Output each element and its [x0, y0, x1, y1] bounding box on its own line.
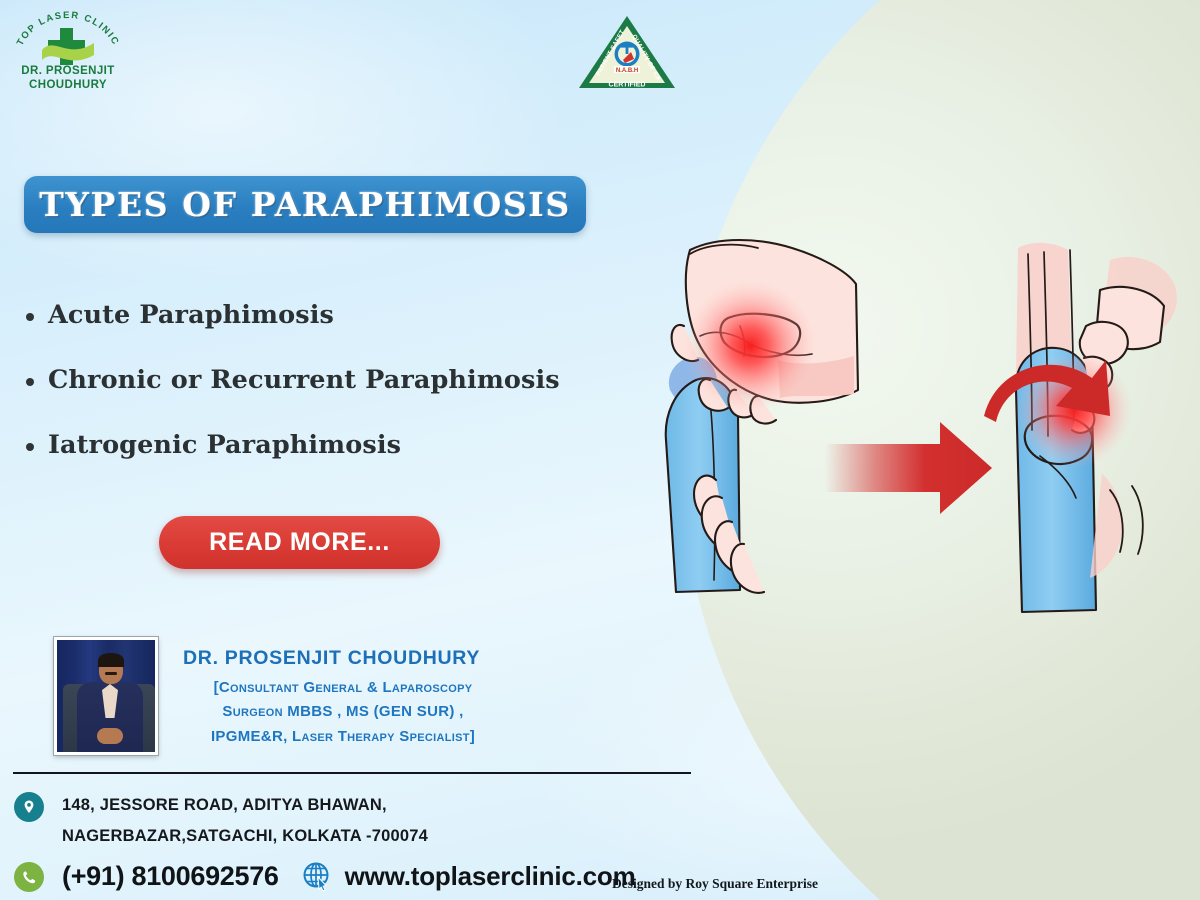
list-item: Chronic or Recurrent Paraphimosis	[20, 365, 580, 397]
nabh-acronym: N.A.B.H	[616, 68, 638, 74]
list-item: Acute Paraphimosis	[20, 300, 580, 332]
phone-web-row: (+91) 8100692576 www.toplaserclinic.com	[14, 860, 714, 892]
clinic-website[interactable]: www.toplaserclinic.com	[345, 861, 636, 892]
page-title: Types of Paraphimosis	[39, 185, 571, 224]
paraphimosis-illustration	[640, 230, 1185, 630]
poster-canvas: TOP LASER CLINIC DR. PROSENJIT CHOUDHURY…	[0, 0, 1200, 900]
clinic-phone[interactable]: (+91) 8100692576	[62, 861, 279, 892]
list-item-label: Chronic or Recurrent Paraphimosis	[48, 365, 560, 397]
list-item-label: Acute Paraphimosis	[48, 300, 334, 332]
logo-name-line2: CHOUDHURY	[29, 79, 107, 91]
footer-divider	[13, 772, 691, 774]
logo-clinic-name: DR. PROSENJIT CHOUDHURY	[8, 64, 128, 93]
photo-hair	[98, 653, 124, 667]
nabh-certified-label: CERTIFIED	[609, 82, 646, 89]
bullet-dot-icon	[26, 378, 34, 386]
doctor-profile: DR. PROSENJIT CHOUDHURY [Consultant Gene…	[54, 637, 503, 755]
map-pin-icon	[14, 792, 44, 822]
clinic-logo[interactable]: TOP LASER CLINIC DR. PROSENJIT CHOUDHURY	[8, 6, 128, 102]
address-line2: NAGERBAZAR,SATGACHI, KOLKATA -700074	[62, 827, 428, 845]
design-credit: Designed by Roy Square Enterprise	[612, 876, 818, 892]
doctor-credentials-line3: IPGME&R, Laser Therapy Specialist]	[211, 728, 475, 745]
list-item: Iatrogenic Paraphimosis	[20, 430, 580, 462]
list-item-label: Iatrogenic Paraphimosis	[48, 430, 401, 462]
doctor-name: DR. PROSENJIT CHOUDHURY	[183, 647, 503, 670]
inflammation-glow	[684, 280, 816, 412]
globe-cursor-icon	[301, 860, 333, 892]
doctor-photo	[54, 637, 158, 755]
doctor-credentials-line2: Surgeon MBBS , MS (GEN SUR) ,	[222, 703, 463, 720]
photo-moustache	[105, 672, 117, 675]
bullet-dot-icon	[26, 313, 34, 321]
doctor-details: DR. PROSENJIT CHOUDHURY [Consultant Gene…	[183, 637, 503, 749]
address-row: 148, JESSORE ROAD, ADITYA BHAWAN, NAGERB…	[14, 790, 714, 851]
doctor-credentials-line1: [Consultant General & Laparoscopy	[214, 679, 473, 696]
address-line1: 148, JESSORE ROAD, ADITYA BHAWAN,	[62, 796, 387, 814]
paraphimosis-type-list: Acute Paraphimosis Chronic or Recurrent …	[20, 300, 580, 495]
phone-handset-icon	[14, 862, 44, 892]
logo-name-line1: DR. PROSENJIT	[21, 65, 114, 77]
clinic-address: 148, JESSORE ROAD, ADITYA BHAWAN, NAGERB…	[62, 790, 428, 851]
bullet-dot-icon	[26, 443, 34, 451]
doctor-credentials: [Consultant General & Laparoscopy Surgeo…	[183, 676, 503, 749]
page-title-banner: Types of Paraphimosis	[24, 176, 586, 233]
right-arrow-icon	[825, 422, 992, 514]
nabh-certified-badge: PATIENT SAFETY & QUALITY OF CARE N.A.B.H…	[577, 14, 677, 90]
read-more-button[interactable]: READ MORE...	[159, 516, 440, 569]
photo-hands	[97, 728, 123, 744]
contact-block: 148, JESSORE ROAD, ADITYA BHAWAN, NAGERB…	[14, 790, 714, 892]
